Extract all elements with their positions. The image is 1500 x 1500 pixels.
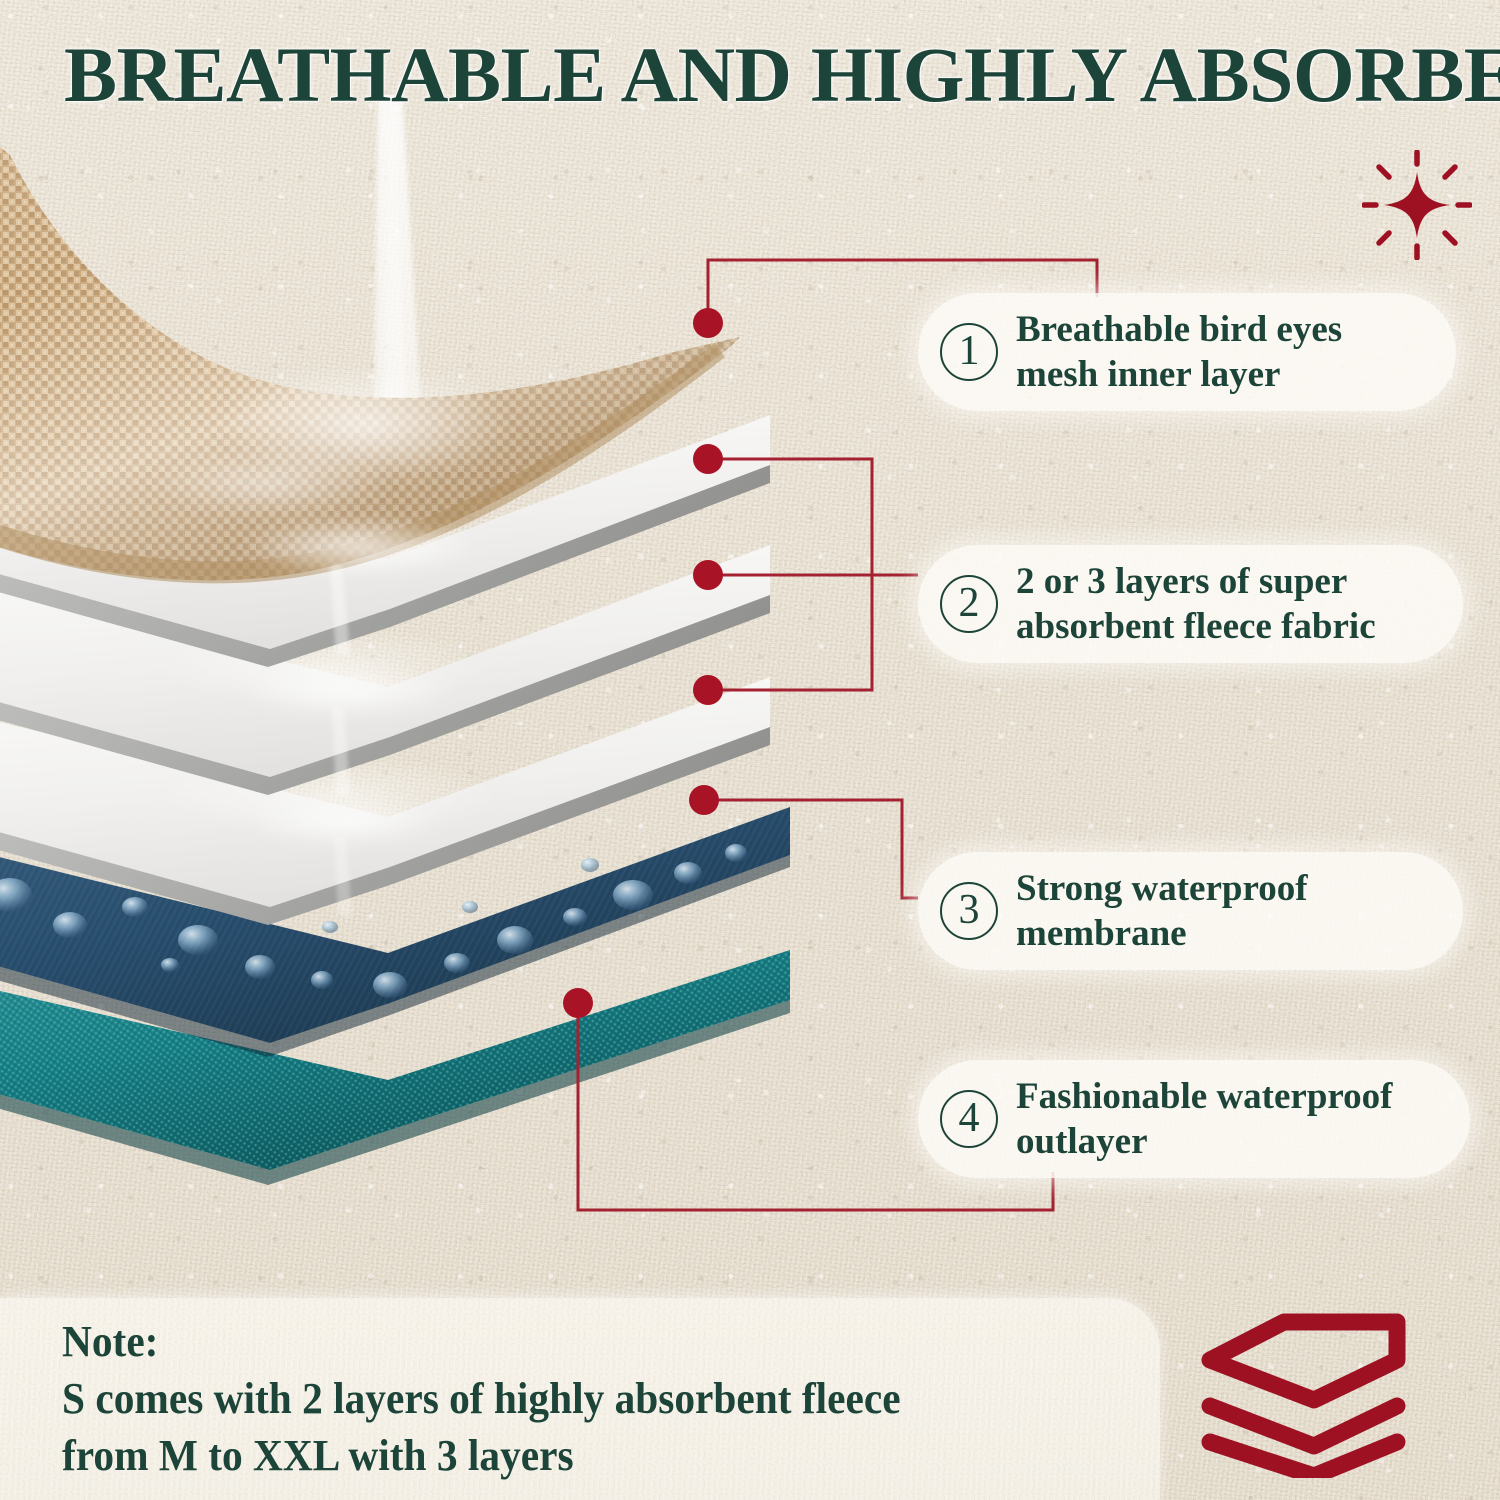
fabric-layers-illustration: [0, 95, 830, 1205]
callout-number-2: 2: [940, 575, 998, 633]
callout-1: 1 Breathable bird eyes mesh inner layer: [918, 293, 1456, 411]
callout-2-line1: 2 or 3 layers of super: [1016, 559, 1376, 604]
note-text-block: Note: S comes with 2 layers of highly ab…: [62, 1314, 901, 1484]
note-line-2: from M to XXL with 3 layers: [62, 1428, 901, 1485]
sparkle-icon: [1362, 150, 1472, 260]
callout-1-line2: mesh inner layer: [1016, 352, 1342, 397]
callout-3-line2: membrane: [1016, 911, 1308, 956]
callout-4: 4 Fashionable waterproof outlayer: [918, 1060, 1470, 1178]
callout-number-1: 1: [940, 323, 998, 381]
callout-4-line2: outlayer: [1016, 1119, 1393, 1164]
callout-text-3: Strong waterproof membrane: [1016, 866, 1308, 956]
layers-stack-icon: [1192, 1308, 1442, 1478]
callout-3-line1: Strong waterproof: [1016, 866, 1308, 911]
callout-text-4: Fashionable waterproof outlayer: [1016, 1074, 1393, 1164]
infographic-canvas: BREATHABLE AND HIGHLY ABSORBENT 1 Breath…: [0, 0, 1500, 1500]
callout-3: 3 Strong waterproof membrane: [918, 852, 1463, 970]
callout-4-line1: Fashionable waterproof: [1016, 1074, 1393, 1119]
page-title: BREATHABLE AND HIGHLY ABSORBENT: [64, 36, 1492, 114]
callout-text-1: Breathable bird eyes mesh inner layer: [1016, 307, 1342, 397]
note-heading: Note:: [62, 1314, 901, 1371]
callout-2-line2: absorbent fleece fabric: [1016, 604, 1376, 649]
callout-2: 2 2 or 3 layers of super absorbent fleec…: [918, 545, 1463, 663]
callout-number-3: 3: [940, 882, 998, 940]
note-panel: Note: S comes with 2 layers of highly ab…: [0, 1298, 1160, 1500]
callout-text-2: 2 or 3 layers of super absorbent fleece …: [1016, 559, 1376, 649]
note-line-1: S comes with 2 layers of highly absorben…: [62, 1371, 901, 1428]
callout-number-4: 4: [940, 1090, 998, 1148]
callout-1-line1: Breathable bird eyes: [1016, 307, 1342, 352]
